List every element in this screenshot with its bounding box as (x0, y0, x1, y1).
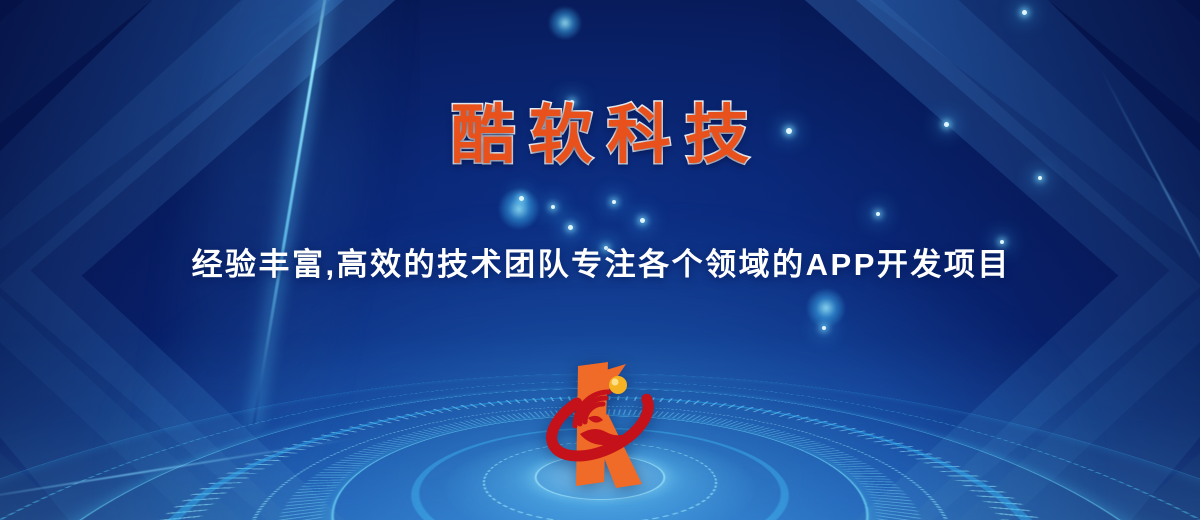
company-name-title: 酷软科技 (0, 103, 1200, 167)
particle-dot (568, 225, 573, 230)
k-letterform (574, 362, 642, 488)
particle-dot (1038, 176, 1042, 180)
particle-dot (519, 196, 524, 201)
particle-dot (822, 326, 826, 330)
gold-dot-highlight (612, 379, 619, 386)
gold-dot (609, 376, 627, 394)
particle-dot (551, 205, 555, 209)
particle-glow-top (548, 6, 582, 40)
particle-glow-right (806, 288, 846, 328)
particle-dot (612, 200, 616, 204)
particle-dot (1000, 240, 1004, 244)
particle-glow-large (498, 188, 540, 230)
company-tagline: 经验丰富,高效的技术团队专注各个领域的APP开发项目 (0, 249, 1200, 280)
tech-company-banner: 酷软科技 经验丰富,高效的技术团队专注各个领域的APP开发项目 (0, 0, 1200, 520)
particle-dot (640, 218, 645, 223)
particle-dot (1022, 10, 1027, 15)
company-logo (530, 352, 670, 502)
particle-dot (876, 212, 880, 216)
